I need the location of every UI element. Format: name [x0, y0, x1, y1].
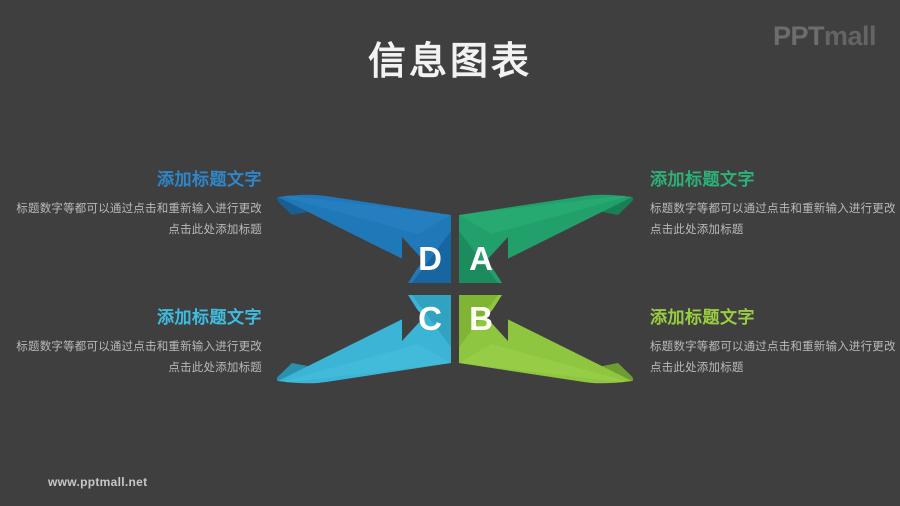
center-divider-horizontal	[392, 285, 518, 293]
heading-top-left: 添加标题文字	[12, 170, 262, 190]
text-block-bottom-right: 添加标题文字 标题数字等都可以通过点击和重新输入进行更改 点击此处添加标题	[650, 308, 900, 378]
text-block-bottom-left: 添加标题文字 标题数字等都可以通过点击和重新输入进行更改 点击此处添加标题	[12, 308, 262, 378]
page-title: 信息图表	[0, 40, 900, 86]
text-block-top-right: 添加标题文字 标题数字等都可以通过点击和重新输入进行更改 点击此处添加标题	[650, 170, 900, 240]
heading-bottom-right: 添加标题文字	[650, 308, 900, 328]
converging-arrows-diagram: D A C B	[262, 185, 648, 393]
segment-letter-d: D	[418, 240, 442, 277]
body-top-right: 标题数字等都可以通过点击和重新输入进行更改 点击此处添加标题	[650, 199, 900, 239]
body-bottom-left: 标题数字等都可以通过点击和重新输入进行更改 点击此处添加标题	[12, 337, 262, 377]
slide-canvas: PPTmall 信息图表 添加标题文字 标题数字等都可以通过点击和重新输入进行更…	[0, 0, 900, 506]
segment-letter-b: B	[469, 300, 493, 337]
segment-letter-c: C	[418, 300, 442, 337]
footer-url: www.pptmall.net	[48, 475, 147, 489]
text-block-top-left: 添加标题文字 标题数字等都可以通过点击和重新输入进行更改 点击此处添加标题	[12, 170, 262, 240]
body-top-left: 标题数字等都可以通过点击和重新输入进行更改 点击此处添加标题	[12, 199, 262, 239]
body-bottom-right: 标题数字等都可以通过点击和重新输入进行更改 点击此处添加标题	[650, 337, 900, 377]
segment-letter-a: A	[469, 240, 493, 277]
heading-top-right: 添加标题文字	[650, 170, 900, 190]
heading-bottom-left: 添加标题文字	[12, 308, 262, 328]
